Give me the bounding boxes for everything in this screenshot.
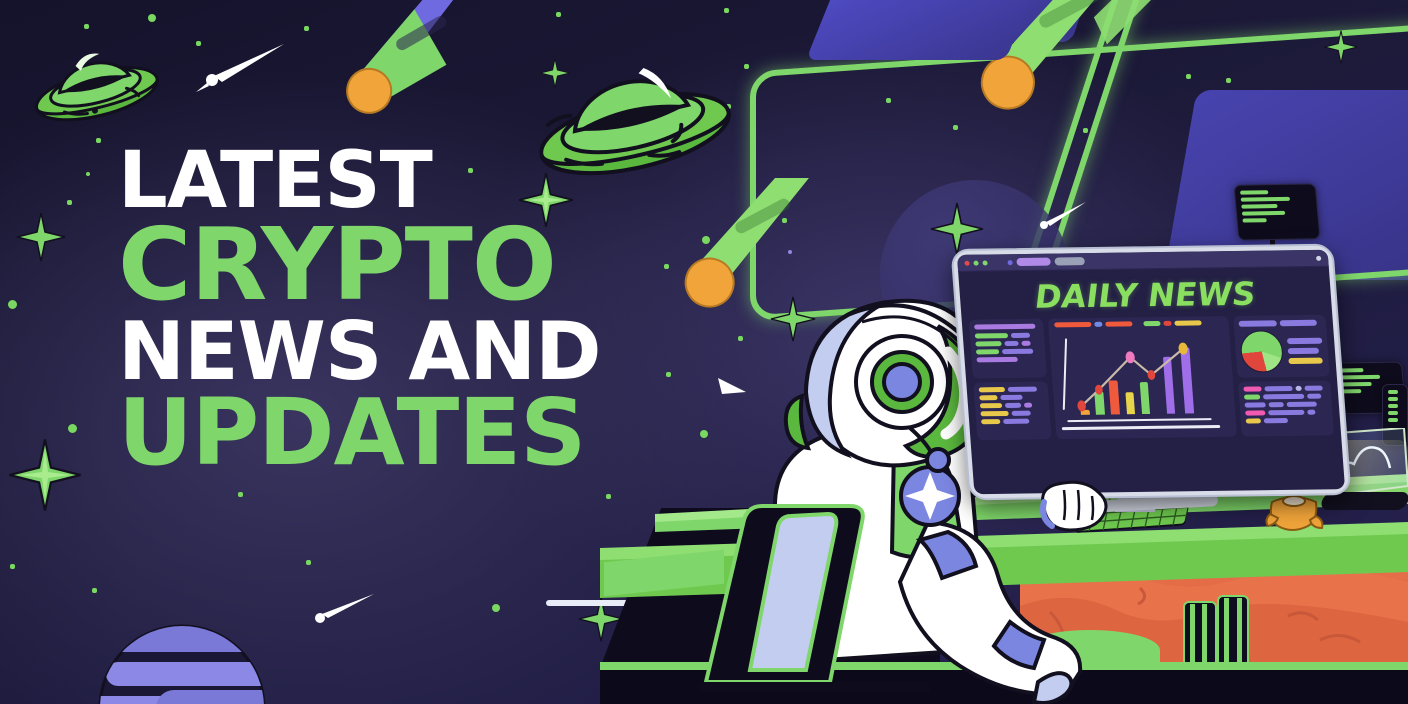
chair-icon <box>700 492 930 697</box>
star-dot <box>68 424 77 433</box>
star-dot <box>744 64 749 69</box>
star-dot <box>67 200 72 205</box>
canister-icon <box>1182 588 1260 673</box>
price-chart-card[interactable] <box>1048 316 1237 439</box>
chart-plot-area <box>1055 330 1230 424</box>
star-dot <box>84 24 89 29</box>
planet-icon <box>92 618 272 704</box>
legend-item <box>1288 358 1322 364</box>
star-dot <box>306 560 311 565</box>
table-row <box>1243 386 1326 392</box>
star-dot <box>304 26 309 31</box>
table-row <box>979 394 1043 400</box>
table-row <box>981 418 1045 424</box>
monitor-title: DAILY NEWS <box>959 274 1332 317</box>
shooting-star-icon <box>196 42 288 99</box>
list-item <box>974 324 1036 330</box>
sparkle-star-icon <box>16 212 66 262</box>
star-dot <box>886 98 891 103</box>
legend-item <box>1288 348 1319 354</box>
dashboard-left-column <box>969 319 1052 441</box>
ticker-list[interactable] <box>973 381 1051 440</box>
hero-banner-scene: LATEST CRYPTO NEWS AND UPDATES <box>0 0 1408 704</box>
table-row <box>980 410 1044 416</box>
dashboard <box>962 315 1342 448</box>
star-dot <box>8 300 17 309</box>
table-row <box>1245 409 1328 415</box>
page-title: LATEST CRYPTO NEWS AND UPDATES <box>118 146 601 475</box>
star-dot <box>92 588 97 593</box>
chart-scrollbar[interactable] <box>1062 425 1220 430</box>
sparkle-star-icon <box>8 438 82 512</box>
menu-dot[interactable] <box>1316 255 1321 260</box>
browser-tab-inactive[interactable] <box>1054 257 1085 265</box>
star-dot <box>724 8 729 13</box>
monitor-screen[interactable]: DAILY NEWS <box>957 250 1345 495</box>
monitor-display[interactable]: DAILY NEWS <box>950 244 1351 501</box>
star-dot <box>700 430 708 438</box>
comet-icon <box>330 0 560 125</box>
star-dot <box>148 14 156 22</box>
table-row <box>1244 401 1327 407</box>
table-row <box>975 341 1039 347</box>
status-screen-top[interactable] <box>1233 183 1320 240</box>
headline-line-2: CRYPTO <box>118 220 601 310</box>
star-dot <box>10 564 15 569</box>
comet-icon <box>1060 0 1360 95</box>
headline-list[interactable] <box>969 319 1047 378</box>
star-dot <box>86 172 90 176</box>
shooting-star-icon <box>310 592 376 633</box>
window-minimize-dot[interactable] <box>973 260 978 265</box>
table-row <box>976 349 1040 355</box>
table-row <box>1244 394 1327 400</box>
window-maximize-dot[interactable] <box>982 260 987 265</box>
list-item <box>976 357 1017 363</box>
browser-tab-active[interactable] <box>1016 258 1051 266</box>
astronaut-glove <box>1040 480 1110 537</box>
shooting-star-icon <box>1036 200 1088 239</box>
headline-line-4: UPDATES <box>118 392 601 475</box>
star-dot <box>492 604 500 612</box>
window-close-dot[interactable] <box>964 260 969 265</box>
dashboard-right-column <box>1233 315 1334 437</box>
window-pane-left <box>806 0 1034 60</box>
tab-favicon <box>1007 260 1012 265</box>
table-row <box>979 386 1043 392</box>
allocation-card[interactable] <box>1233 315 1330 378</box>
chart-toolbar <box>1054 320 1223 327</box>
headline-line-3: NEWS AND <box>118 316 601 388</box>
table-row <box>1246 417 1329 423</box>
table-row <box>1238 320 1321 327</box>
market-table[interactable] <box>1238 380 1334 436</box>
allocation-pie <box>1239 330 1284 372</box>
table-row <box>975 333 1039 339</box>
star-dot <box>238 492 243 497</box>
legend-item <box>1287 338 1322 344</box>
star-dot <box>606 494 611 499</box>
table-row <box>980 402 1044 408</box>
star-dot <box>666 372 671 377</box>
ufo-icon <box>28 32 160 130</box>
chart-line-series <box>1055 330 1230 424</box>
star-dot <box>96 138 101 143</box>
